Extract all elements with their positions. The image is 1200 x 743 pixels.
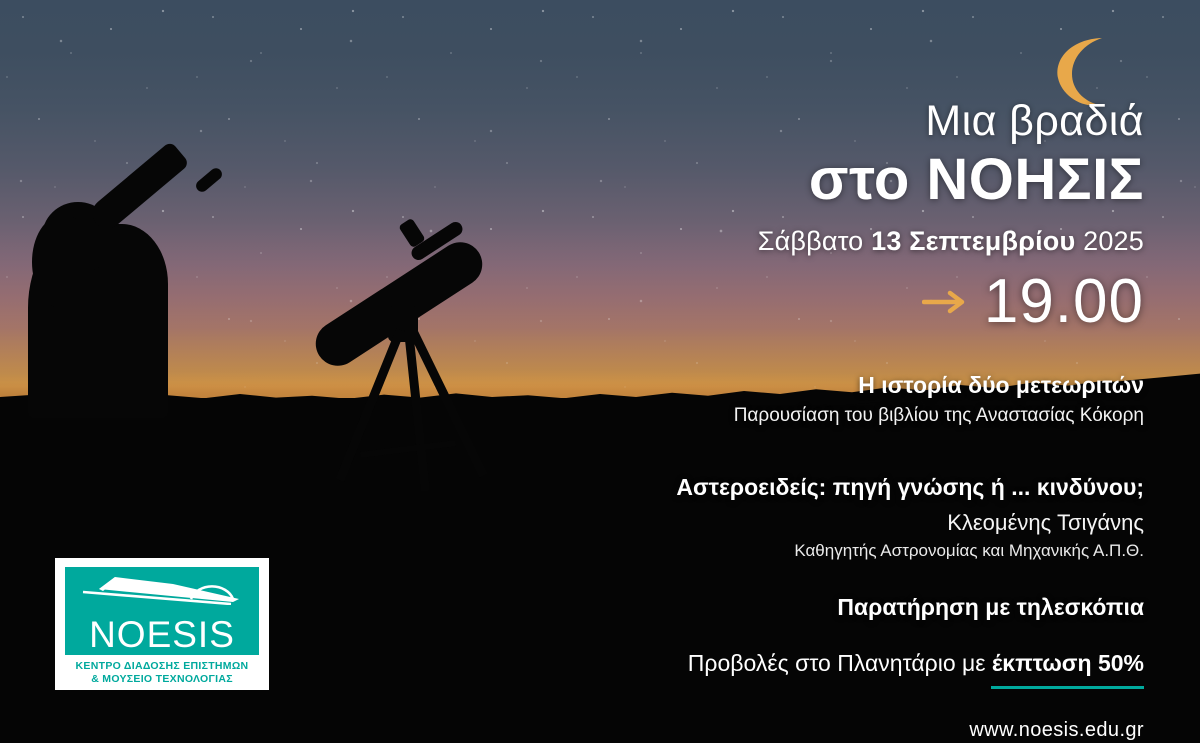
event-1-title: Η ιστορία δύο μετεωριτών <box>524 371 1144 400</box>
promo-underline <box>991 686 1144 689</box>
event-time-row: 19.00 <box>524 271 1144 333</box>
headline-bold: στο ΝΟΗΣΙΣ <box>524 149 1144 212</box>
promo-highlight: έκπτωση 50% <box>992 650 1144 676</box>
person-hood <box>32 216 90 308</box>
poster-canvas: Μια βραδιά στο ΝΟΗΣΙΣ Σάββατο 13 Σεπτεμβ… <box>0 0 1200 743</box>
noesis-wordmark: NOESIS <box>65 616 259 653</box>
event-block-3: Παρατήρηση με τηλεσκόπια <box>524 593 1144 622</box>
event-block-1: Η ιστορία δύο μετεωριτών Παρουσίαση του … <box>524 371 1144 429</box>
noesis-building-icon <box>81 575 243 605</box>
event-block-2: Αστεροειδείς: πηγή γνώσης ή ... κινδύνου… <box>524 473 1144 562</box>
promo-block: Προβολές στο Πλανητάριο με έκπτωση 50% <box>524 649 1144 689</box>
noesis-logo[interactable]: NOESIS ΚΕΝΤΡΟ ΔΙΑΔΟΣΗΣ ΕΠΙΣΤΗΜΩΝ & ΜΟΥΣΕ… <box>55 558 269 690</box>
date-prefix: Σάββατο <box>758 226 871 256</box>
logo-teal-panel: NOESIS <box>65 567 259 655</box>
date-bold: 13 Σεπτεμβρίου <box>871 226 1075 256</box>
date-suffix: 2025 <box>1075 226 1144 256</box>
telescope-tube <box>307 234 490 374</box>
logo-caption-line-2: & ΜΟΥΣΕΙΟ ΤΕΧΝΟΛΟΓΙΑΣ <box>65 673 259 686</box>
headline-light: Μια βραδιά <box>524 100 1144 143</box>
event-1-subtitle: Παρουσίαση του βιβλίου της Αναστασίας Κό… <box>524 404 1144 429</box>
event-time: 19.00 <box>984 271 1144 333</box>
event-2-speaker-role: Καθηγητής Αστρονομίας και Μηχανικής Α.Π.… <box>524 540 1144 562</box>
event-3-title: Παρατήρηση με τηλεσκόπια <box>524 593 1144 622</box>
event-2-speaker: Κλεομένης Τσιγάνης <box>524 509 1144 538</box>
arrow-right-icon <box>922 287 968 317</box>
person-silhouette <box>18 186 228 418</box>
logo-caption-line-1: ΚΕΝΤΡΟ ΔΙΑΔΟΣΗΣ ΕΠΙΣΤΗΜΩΝ <box>65 660 259 673</box>
promo-text: Προβολές στο Πλανητάριο με έκπτωση 50% <box>524 649 1144 679</box>
event-date: Σάββατο 13 Σεπτεμβρίου 2025 <box>524 226 1144 257</box>
promo-prefix: Προβολές στο Πλανητάριο με <box>688 650 992 676</box>
noesis-logo-caption: ΚΕΝΤΡΟ ΔΙΑΔΟΣΗΣ ΕΠΙΣΤΗΜΩΝ & ΜΟΥΣΕΙΟ ΤΕΧΝ… <box>65 660 259 686</box>
website-url[interactable]: www.noesis.edu.gr <box>524 719 1144 742</box>
poster-text-column: Μια βραδιά στο ΝΟΗΣΙΣ Σάββατο 13 Σεπτεμβ… <box>524 0 1144 742</box>
telescope-silhouette <box>300 190 530 430</box>
event-2-title: Αστεροειδείς: πηγή γνώσης ή ... κινδύνου… <box>524 473 1144 502</box>
